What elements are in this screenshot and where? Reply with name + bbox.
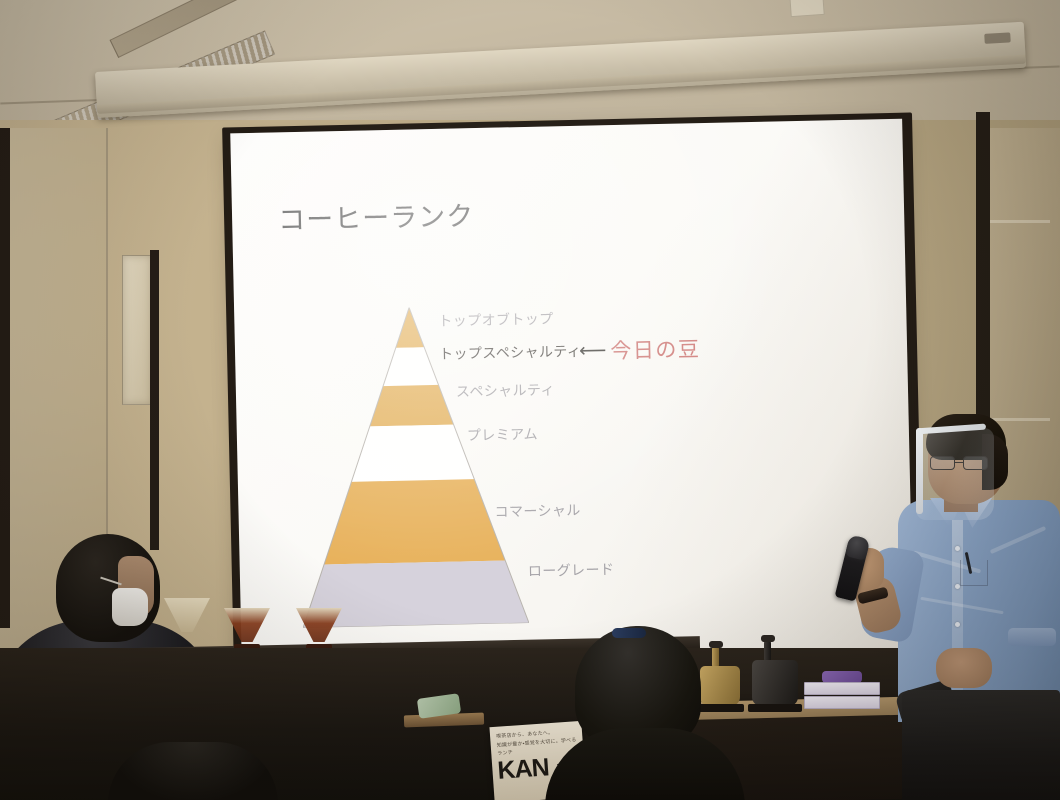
box-upper [804,682,880,695]
tier-label-top-specialty: トップスペシャルティ [439,341,582,364]
kettle-tray-black [748,704,802,712]
box-lower [804,696,880,709]
kettle-lid-gold [709,641,723,648]
annotation-text: 今日の豆 [610,333,701,365]
dripper-filter-2 [224,608,270,642]
wall-gap-left [150,250,159,550]
ceiling-light-small [789,0,824,17]
kettle-body-black [752,660,798,706]
shirt-fold-3 [990,526,1046,554]
kettle-spout-gold [712,646,719,668]
presenter-right-cuff [1008,628,1056,646]
pyramid-chart: トップオブトップ トップスペシャルティ スペシャルティ プレミアム コマーシャル… [286,298,873,641]
face-shield [916,428,994,520]
presenter-apron [902,690,1060,800]
tier-label-low-grade: ローグレード [528,559,615,581]
pyramid-tier-2 [382,347,438,386]
shirt-button-3 [955,622,960,627]
left-arrow-icon: ⟵ [579,341,605,361]
dripper-filter-1 [164,598,210,632]
recess-shelf-upper [985,220,1050,223]
kettle-body-gold [700,666,740,706]
housing-badge [984,32,1011,43]
screen-surface: コーヒーランク [230,119,913,668]
presentation-photo-scene: コーヒーランク [0,0,1060,800]
kettle-lid-black [761,635,775,642]
shirt-button-1 [955,546,960,551]
dripper-filter-3 [296,608,342,642]
kettle-spout-black [764,640,771,662]
pyramid-tier-5 [322,479,505,565]
annotation-today-bean: ⟵ 今日の豆 [579,333,701,366]
pyramid-tier-1 [395,307,424,348]
slide: コーヒーランク [230,119,913,668]
presenter-right-hand [936,648,992,688]
face-shield-band [916,428,923,514]
flyer-brand: KAN [497,753,550,785]
slide-title: コーヒーランク [278,194,475,237]
projection-screen: コーヒーランク [230,119,913,668]
kettle-tray-gold [696,704,744,712]
wall-frame-recess [122,255,152,405]
audience-center-hair-clip [612,628,646,638]
pyramid-tier-4 [350,424,474,482]
product-box-stack [804,680,880,714]
tier-label-top-of-top: トップオブトップ [438,308,554,331]
tier-label-specialty: スペシャルティ [456,379,555,401]
tier-label-premium: プレミアム [467,424,538,446]
presenter-shirt-pocket [960,560,988,586]
audience-left-face-mask [112,588,148,626]
wall-gap-far-left [0,128,10,628]
gooseneck-kettle-black [752,652,800,712]
tier-label-commercial: コマーシャル [494,500,581,522]
gooseneck-kettle-gold [700,658,744,714]
